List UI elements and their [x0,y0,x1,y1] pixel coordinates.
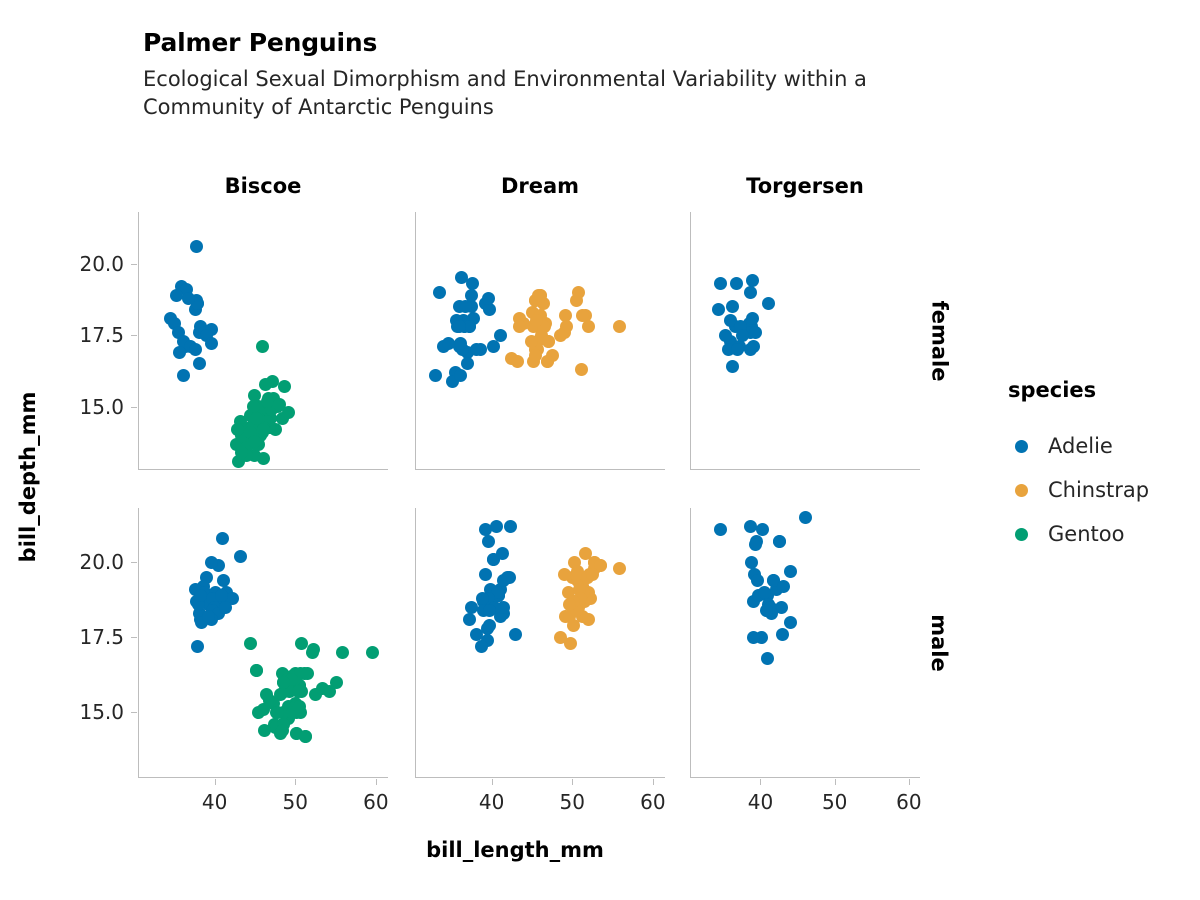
panel-bottom-axis-line [415,469,665,470]
data-point-gentoo [292,685,305,698]
legend-item-label: Adelie [1048,434,1113,458]
x-tick-mark [835,779,836,785]
data-point-adelie [762,297,775,310]
data-point-adelie [731,343,744,356]
data-point-gentoo [316,682,329,695]
data-point-adelie [205,556,218,569]
data-point-chinstrap [554,631,567,644]
data-point-chinstrap [542,335,555,348]
x-tick-label: 60 [363,790,388,814]
data-point-adelie [234,550,247,563]
panel-dream-female [415,212,665,470]
data-point-adelie [483,303,496,316]
data-point-gentoo [250,412,263,425]
data-point-adelie [442,337,455,350]
legend-dot-icon [1015,528,1028,541]
legend-dot-icon [1015,440,1028,453]
facet-strip-female: female [924,212,954,470]
data-point-gentoo [282,406,295,419]
legend-dot-icon [1015,484,1028,497]
data-point-gentoo [250,664,263,677]
legend-item-label: Gentoo [1048,522,1124,546]
data-point-gentoo [271,706,284,719]
data-point-adelie [719,329,732,342]
y-tick-mark [131,712,137,713]
data-point-adelie [479,568,492,581]
panel-left-axis-line [690,212,691,470]
y-tick-label: 20.0 [8,252,124,276]
data-point-gentoo [299,730,312,743]
data-point-adelie [501,571,514,584]
panel-biscoe-female [138,212,388,470]
data-point-adelie [745,556,758,569]
data-point-chinstrap [582,613,595,626]
data-point-adelie [433,286,446,299]
data-point-adelie [712,303,725,316]
x-tick-label: 50 [822,790,847,814]
data-point-chinstrap [558,568,571,581]
panel-left-axis-line [415,212,416,470]
panel-left-axis-line [138,508,139,778]
data-point-chinstrap [534,289,547,302]
y-tick-label: 15.0 [8,700,124,724]
legend-item-label: Chinstrap [1048,478,1149,502]
y-tick-label: 17.5 [8,625,124,649]
legend-item-adelie[interactable]: Adelie [1008,424,1149,468]
panel-bottom-axis-line [415,777,665,778]
data-point-adelie [219,601,232,614]
data-point-gentoo [256,340,269,353]
x-tick-label: 40 [479,790,504,814]
data-point-adelie [465,289,478,302]
data-point-chinstrap [563,598,576,611]
data-point-adelie [454,369,467,382]
chart-root: Palmer Penguins Ecological Sexual Dimorp… [0,0,1200,900]
data-point-gentoo [257,423,270,436]
data-point-chinstrap [541,355,554,368]
data-point-adelie [487,340,500,353]
facet-strip-male-label: male [927,614,951,672]
data-point-chinstrap [582,320,595,333]
data-point-adelie [744,343,757,356]
data-point-chinstrap [513,320,526,333]
x-tick-label: 60 [640,790,665,814]
data-point-chinstrap [572,286,585,299]
facet-strip-biscoe: Biscoe [138,172,388,200]
data-point-adelie [483,619,496,632]
data-point-adelie [746,312,759,325]
data-point-adelie [714,277,727,290]
facet-strip-torgersen: Torgersen [690,172,920,200]
facet-strip-male: male [924,508,954,778]
data-point-chinstrap [613,320,626,333]
x-tick-mark [909,779,910,785]
x-tick-label: 40 [202,790,227,814]
y-tick-mark [131,637,137,638]
data-point-chinstrap [554,329,567,342]
y-tick-mark [131,562,137,563]
data-point-gentoo [366,646,379,659]
legend-key-icon [1008,433,1034,459]
data-point-gentoo [231,423,244,436]
data-point-gentoo [261,395,274,408]
x-tick-mark [376,779,377,785]
data-point-adelie [191,640,204,653]
page-subtitle: Ecological Sexual Dimorphism and Environ… [143,66,963,121]
data-point-gentoo [244,637,257,650]
data-point-gentoo [248,435,261,448]
data-point-chinstrap [511,355,524,368]
data-point-gentoo [263,694,276,707]
data-point-adelie [483,604,496,617]
panel-dream-male [415,508,665,778]
x-tick-label: 40 [748,790,773,814]
data-point-adelie [756,523,769,536]
data-point-adelie [758,586,771,599]
legend-item-gentoo[interactable]: Gentoo [1008,512,1149,556]
data-point-adelie [509,628,522,641]
data-point-chinstrap [576,309,589,322]
data-point-adelie [182,292,195,305]
data-point-adelie [189,343,202,356]
data-point-adelie [205,337,218,350]
data-point-adelie [744,520,757,533]
data-point-adelie [429,369,442,382]
data-point-adelie [202,610,215,623]
data-point-adelie [465,601,478,614]
data-point-adelie [463,613,476,626]
x-tick-label: 60 [896,790,921,814]
data-point-adelie [177,369,190,382]
facet-strip-female-label: female [927,301,951,382]
data-point-adelie [173,346,186,359]
legend: species AdelieChinstrapGentoo [1008,378,1149,556]
panel-torgersen-male [690,508,920,778]
data-point-adelie [470,628,483,641]
panel-torgersen-female [690,212,920,470]
x-tick-mark [295,779,296,785]
data-point-adelie [747,631,760,644]
data-point-adelie [751,574,764,587]
panel-bottom-axis-line [138,777,388,778]
page-title: Palmer Penguins [143,28,377,57]
panel-bottom-axis-line [690,777,920,778]
data-point-adelie [215,589,228,602]
data-point-adelie [726,360,739,373]
data-point-gentoo [235,446,248,459]
data-point-chinstrap [586,568,599,581]
data-point-adelie [482,292,495,305]
x-tick-label: 50 [560,790,585,814]
data-point-adelie [475,640,488,653]
legend-item-chinstrap[interactable]: Chinstrap [1008,468,1149,512]
data-point-adelie [784,616,797,629]
data-point-adelie [749,326,762,339]
data-point-adelie [453,320,466,333]
x-tick-mark [760,779,761,785]
data-point-adelie [773,535,786,548]
data-point-gentoo [278,380,291,393]
data-point-adelie [482,535,495,548]
legend-title: species [1008,378,1149,402]
x-tick-mark [572,779,573,785]
data-point-adelie [476,592,489,605]
data-point-adelie [170,289,183,302]
data-point-adelie [744,286,757,299]
data-point-adelie [736,329,749,342]
x-tick-mark [492,779,493,785]
data-point-chinstrap [613,562,626,575]
data-point-adelie [504,520,517,533]
data-point-adelie [190,240,203,253]
data-point-adelie [490,520,503,533]
data-point-adelie [496,547,509,560]
x-tick-label: 50 [283,790,308,814]
data-point-adelie [194,589,207,602]
y-tick-mark [131,264,137,265]
data-point-adelie [784,565,797,578]
data-point-adelie [216,532,229,545]
data-point-adelie [470,343,483,356]
data-point-adelie [799,511,812,524]
data-point-chinstrap [525,335,538,348]
x-tick-mark [215,779,216,785]
data-point-adelie [777,580,790,593]
y-tick-label: 17.5 [8,323,124,347]
data-point-gentoo [293,700,306,713]
x-axis-title: bill_length_mm [0,838,1030,862]
data-point-adelie [760,604,773,617]
legend-items: AdelieChinstrapGentoo [1008,424,1149,556]
data-point-chinstrap [575,363,588,376]
data-point-adelie [193,357,206,370]
data-point-adelie [714,523,727,536]
y-axis-title: bill_depth_mm [16,367,40,587]
y-tick-mark [131,335,137,336]
data-point-adelie [217,574,230,587]
data-point-adelie [776,628,789,641]
data-point-adelie [730,277,743,290]
panel-bottom-axis-line [138,469,388,470]
facet-strip-dream: Dream [415,172,665,200]
data-point-adelie [761,652,774,665]
data-point-gentoo [301,667,314,680]
data-point-gentoo [336,646,349,659]
panel-left-axis-line [690,508,691,778]
legend-key-icon [1008,521,1034,547]
data-point-gentoo [258,724,271,737]
data-point-gentoo [259,378,272,391]
data-point-gentoo [277,676,290,689]
data-point-adelie [726,300,739,313]
data-point-gentoo [307,643,320,656]
x-tick-mark [653,779,654,785]
data-point-gentoo [276,724,289,737]
data-point-adelie [749,538,762,551]
legend-key-icon [1008,477,1034,503]
panel-left-axis-line [415,508,416,778]
y-tick-mark [131,407,137,408]
panel-left-axis-line [138,212,139,470]
panel-biscoe-male [138,508,388,778]
panel-bottom-axis-line [690,469,920,470]
